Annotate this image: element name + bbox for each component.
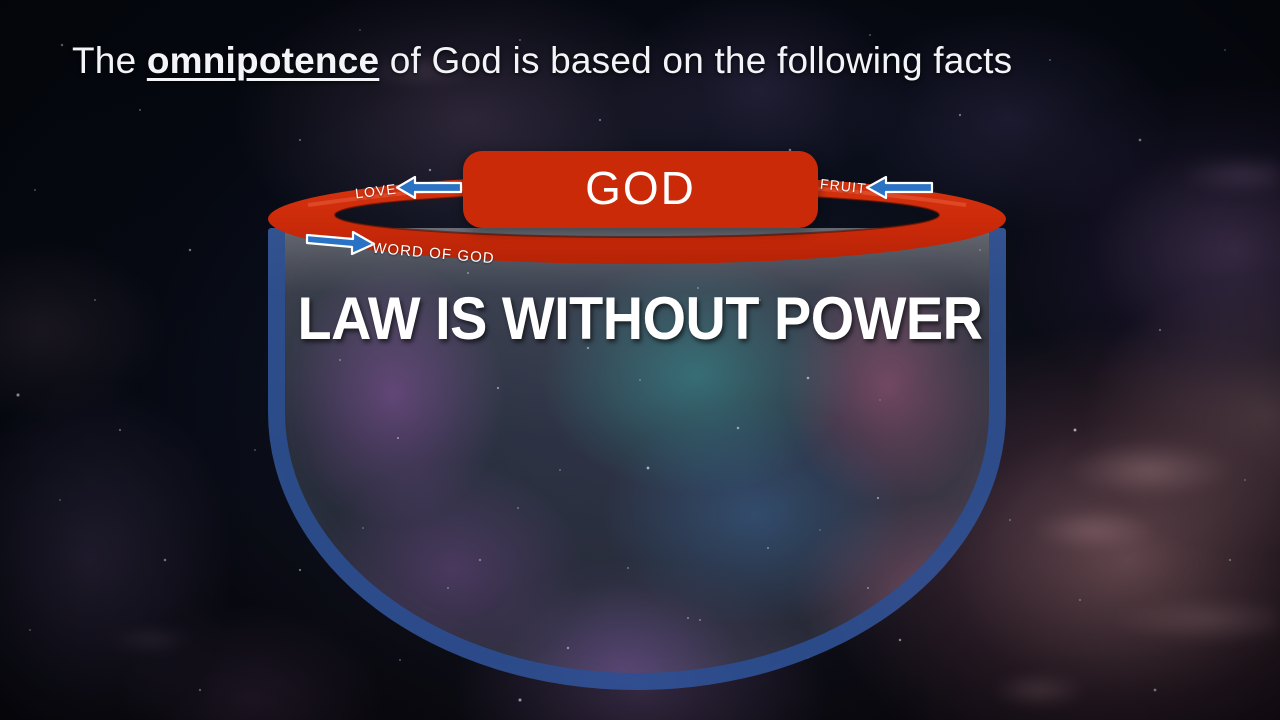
arrow-left-icon bbox=[393, 176, 463, 202]
slide-canvas: The omnipotence of God is based on the f… bbox=[0, 0, 1280, 720]
slide-title: The omnipotence of God is based on the f… bbox=[72, 42, 1072, 81]
title-suffix: of God is based on the following facts bbox=[379, 40, 1012, 81]
god-box-label: GOD bbox=[585, 165, 696, 211]
arrow-right-icon bbox=[305, 229, 377, 257]
title-emphasis: omnipotence bbox=[147, 40, 379, 81]
main-headline: LAW IS WITHOUT POWER bbox=[45, 289, 1235, 349]
arrow-left-icon bbox=[862, 175, 934, 201]
title-prefix: The bbox=[72, 40, 147, 81]
god-box[interactable]: GOD bbox=[463, 151, 818, 228]
